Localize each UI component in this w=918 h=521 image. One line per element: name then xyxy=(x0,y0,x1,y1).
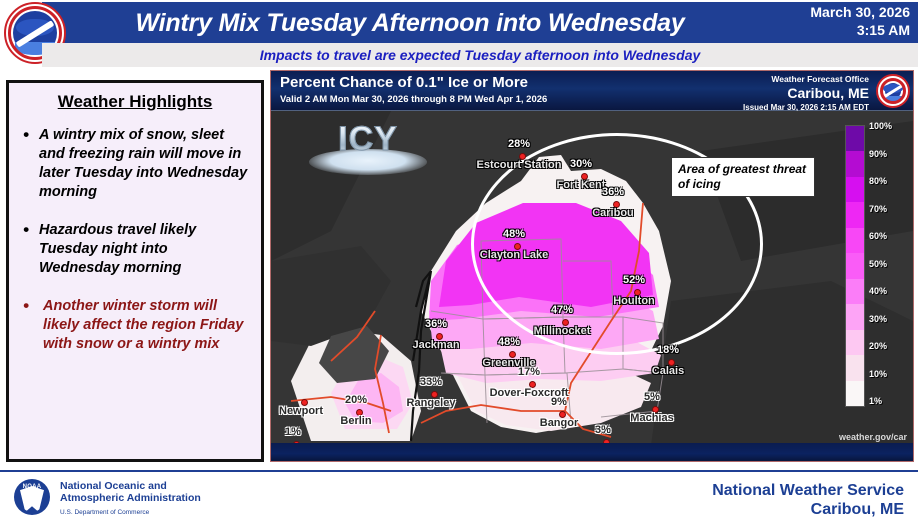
city-percent: 9% xyxy=(551,396,567,408)
city-name: Caribou xyxy=(592,208,634,219)
map-footer-bar xyxy=(271,443,913,461)
city-name: Bangor xyxy=(540,418,579,429)
page-title: Wintry Mix Tuesday Afternoon into Wednes… xyxy=(60,5,760,41)
city-percent: 1% xyxy=(285,426,301,438)
footer-office-name: Caribou, ME xyxy=(712,500,904,519)
icy-graphic: ICY xyxy=(309,119,427,177)
noaa-logo: NOAA xyxy=(14,479,50,515)
legend-tick: 100% xyxy=(869,121,892,131)
list-item: A wintry mix of snow, sleet and freezing… xyxy=(23,126,251,202)
city-percent: 36% xyxy=(602,186,624,198)
city-percent: 52% xyxy=(623,274,645,286)
map-title: Percent Chance of 0.1" Ice or More xyxy=(280,74,528,91)
map-canvas: ICY Area of greatest threat of icing 28%… xyxy=(271,111,913,445)
legend-swatch xyxy=(846,126,864,151)
city-name: Houlton xyxy=(613,296,655,307)
noaa-line-1: National Oceanic and xyxy=(60,480,201,492)
footer-office: National Weather Service Caribou, ME xyxy=(712,481,904,519)
legend-swatch xyxy=(846,202,864,227)
noaa-line-2: Atmospheric Administration xyxy=(60,492,201,504)
legend-swatch xyxy=(846,228,864,253)
city-name: Clayton Lake xyxy=(480,250,548,261)
city-percent: 47% xyxy=(551,304,573,316)
legend-tick-labels: 100%90%80%70%60%50%40%30%20%10%1% xyxy=(869,117,907,413)
city-name: Machias xyxy=(630,413,673,424)
weather-graphic: Wintry Mix Tuesday Afternoon into Wednes… xyxy=(0,0,918,519)
legend-tick: 10% xyxy=(869,369,887,379)
legend-tick: 20% xyxy=(869,341,887,351)
legend-swatch xyxy=(846,253,864,278)
legend-swatch xyxy=(846,381,864,406)
city-name: Calais xyxy=(652,366,684,377)
wfo-label: Weather Forecast Office xyxy=(743,74,869,85)
color-scale-legend: 100%90%80%70%60%50%40%30%20%10%1% xyxy=(841,117,907,413)
city-name: Millinocket xyxy=(534,326,591,337)
wfo-office: Caribou, ME xyxy=(743,85,869,101)
map-office-info: Weather Forecast Office Caribou, ME Issu… xyxy=(743,74,869,113)
page-footer: NOAA National Oceanic and Atmospheric Ad… xyxy=(0,470,918,521)
legend-tick: 90% xyxy=(869,149,887,159)
map-watermark: weather.gov/car xyxy=(839,432,907,442)
city-percent: 3% xyxy=(595,424,611,436)
city-name: Jackman xyxy=(412,340,459,351)
nws-roundel-icon xyxy=(876,74,910,108)
map-header: Percent Chance of 0.1" Ice or More Valid… xyxy=(271,71,913,111)
weather-highlights-panel: Weather Highlights A wintry mix of snow,… xyxy=(6,80,264,462)
list-item: Another winter storm will likely affect … xyxy=(23,297,251,354)
city-percent: 48% xyxy=(503,228,525,240)
city-percent: 17% xyxy=(518,366,540,378)
legend-swatch xyxy=(846,330,864,355)
city-percent: 33% xyxy=(420,376,442,388)
legend-color-bar xyxy=(845,125,865,407)
city-percent: 48% xyxy=(498,336,520,348)
header-datetime: March 30, 2026 3:15 AM xyxy=(760,3,910,39)
list-item: Hazardous travel likely Tuesday night in… xyxy=(23,221,251,278)
city-percent: 28% xyxy=(508,138,530,150)
legend-tick: 50% xyxy=(869,259,887,269)
legend-swatch xyxy=(846,279,864,304)
legend-tick: 70% xyxy=(869,204,887,214)
header-subtitle: Impacts to travel are expected Tuesday a… xyxy=(42,44,918,66)
legend-swatch xyxy=(846,177,864,202)
map-valid-period: Valid 2 AM Mon Mar 30, 2026 through 8 PM… xyxy=(280,94,547,105)
header-time: 3:15 AM xyxy=(760,21,910,39)
footer-service-name: National Weather Service xyxy=(712,481,904,500)
city-percent: 5% xyxy=(644,391,660,403)
legend-tick: 30% xyxy=(869,314,887,324)
city-percent: 20% xyxy=(345,394,367,406)
highlights-list: A wintry mix of snow, sleet and freezing… xyxy=(9,126,261,354)
legend-tick: 60% xyxy=(869,231,887,241)
legend-swatch xyxy=(846,355,864,380)
threat-callout: Area of greatest threat of icing xyxy=(671,157,815,197)
city-name: Berlin xyxy=(340,416,371,427)
legend-swatch xyxy=(846,151,864,176)
forecast-map-panel: Percent Chance of 0.1" Ice or More Valid… xyxy=(270,70,914,462)
city-name: Fort Kent xyxy=(557,180,606,191)
noaa-agency-text: National Oceanic and Atmospheric Adminis… xyxy=(60,480,201,519)
icy-text: ICY xyxy=(309,119,427,159)
city-name: Estcourt Station xyxy=(477,160,562,171)
legend-swatch xyxy=(846,304,864,329)
city-name: Rangeley xyxy=(407,398,456,409)
city-percent: 36% xyxy=(425,318,447,330)
city-percent: 18% xyxy=(657,344,679,356)
city-percent: 30% xyxy=(570,158,592,170)
highlights-title: Weather Highlights xyxy=(9,92,261,112)
legend-tick: 40% xyxy=(869,286,887,296)
city-name: Newport xyxy=(279,406,323,417)
legend-tick: 1% xyxy=(869,396,882,406)
noaa-dept-line: U.S. Department of Commerce xyxy=(60,507,201,519)
legend-tick: 80% xyxy=(869,176,887,186)
header-date: March 30, 2026 xyxy=(760,3,910,21)
